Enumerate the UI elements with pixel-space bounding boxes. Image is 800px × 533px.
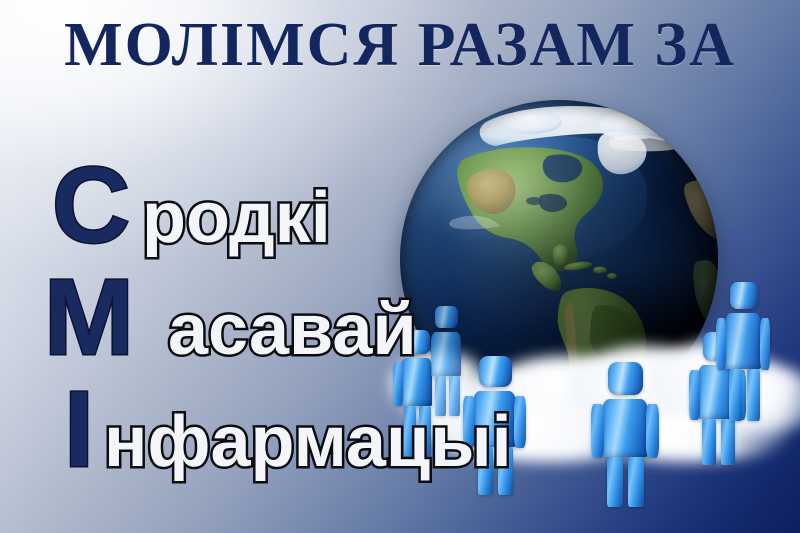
- poster-title: МОЛІМСЯ РАЗАМ ЗА: [0, 14, 800, 76]
- acronym-rest-2: асавай: [168, 290, 417, 370]
- acronym-rest-3: нфармацыі: [104, 402, 512, 482]
- acronym-block: С родкі М асавай І нфармацыі: [0, 150, 600, 490]
- poster-canvas: МОЛІМСЯ РАЗАМ ЗА С родкі М асавай І нфар…: [0, 0, 800, 533]
- person-figure: [716, 282, 772, 428]
- acronym-cap-1: С: [52, 144, 130, 265]
- acronym-rest-1: родкі: [142, 178, 331, 258]
- acronym-cap-3: І: [64, 368, 94, 489]
- acronym-cap-2: М: [44, 256, 134, 377]
